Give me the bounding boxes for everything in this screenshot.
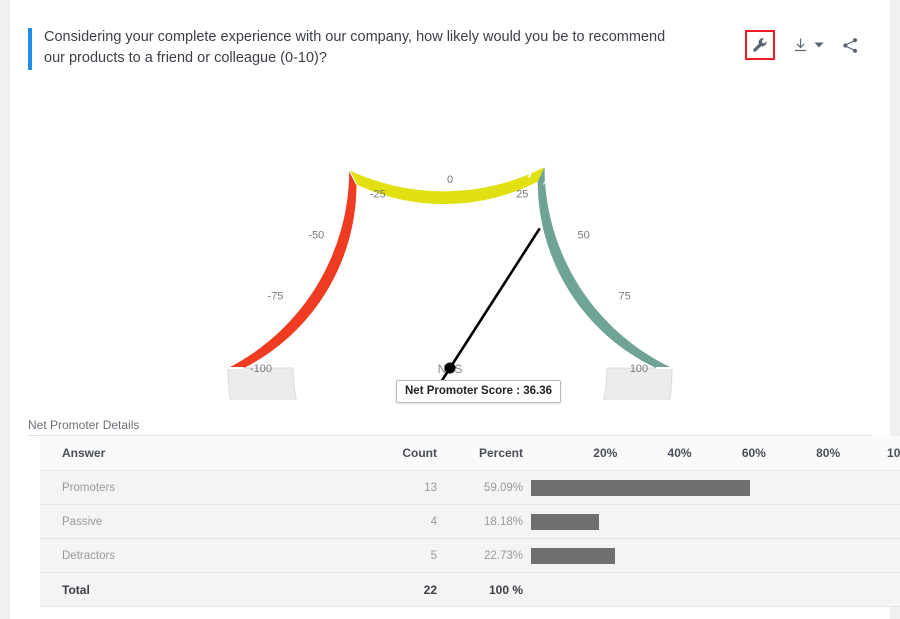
table-row: Detractors522.73% xyxy=(40,539,900,573)
download-icon xyxy=(793,37,808,53)
bar-fill xyxy=(531,514,599,530)
gauge-tick-label: 75 xyxy=(618,291,630,303)
table-row: Promoters1359.09% xyxy=(40,471,900,505)
percent-axis-tick: 40% xyxy=(668,446,692,460)
column-header-count: Count xyxy=(352,436,445,471)
percent-axis-tick: 60% xyxy=(742,446,766,460)
percent-axis-tick: 80% xyxy=(816,446,840,460)
gauge-tick-label: 50 xyxy=(578,229,590,241)
bar-fill xyxy=(531,548,615,564)
bar-track xyxy=(531,505,900,538)
percent-axis-tick: 100% xyxy=(887,446,900,460)
settings-highlight-box[interactable] xyxy=(745,30,775,60)
cell-answer: Detractors xyxy=(40,539,352,573)
gauge-tick-label: -50 xyxy=(308,229,324,241)
percent-axis: 20%40%60%80%100% xyxy=(531,436,900,470)
cell-count: 5 xyxy=(352,539,445,573)
nps-gauge-svg: -100-75-50-250255075100 NPS xyxy=(200,120,700,400)
gauge-tick-label: -25 xyxy=(370,188,386,200)
download-button[interactable] xyxy=(789,33,811,57)
cell-percent: 22.73% xyxy=(445,539,531,573)
gauge-tick-label: 100 xyxy=(630,363,648,375)
cell-percent: 59.09% xyxy=(445,471,531,505)
cell-count: 4 xyxy=(352,505,445,539)
cell-total-bar xyxy=(531,573,900,607)
cell-total-percent: 100 % xyxy=(445,573,531,607)
gauge-color-bands xyxy=(228,167,672,368)
page-root: Considering your complete experience wit… xyxy=(0,0,900,619)
bar-track xyxy=(531,539,900,572)
cell-total-answer: Total xyxy=(40,573,352,607)
question-text: Considering your complete experience wit… xyxy=(44,27,668,69)
gauge-tick-label: -75 xyxy=(267,291,283,303)
table-total-row: Total22100 % xyxy=(40,573,900,607)
table-header-row: Answer Count Percent 20%40%60%80%100% xyxy=(40,436,900,471)
gauge-value-tooltip: Net Promoter Score : 36.36 xyxy=(396,380,561,403)
details-title: Net Promoter Details xyxy=(28,418,139,432)
nps-gauge: -100-75-50-250255075100 NPS xyxy=(10,120,890,410)
percent-axis-tick: 20% xyxy=(593,446,617,460)
gauge-needle xyxy=(436,228,540,390)
table-row: Passive418.18% xyxy=(40,505,900,539)
wrench-icon xyxy=(752,37,768,53)
share-icon xyxy=(842,37,859,54)
cell-bar xyxy=(531,539,900,573)
chart-toolbar xyxy=(745,30,862,60)
column-header-percent: Percent xyxy=(445,436,531,471)
cell-bar xyxy=(531,505,900,539)
download-dropdown-button[interactable] xyxy=(812,33,826,57)
column-header-axis: 20%40%60%80%100% xyxy=(531,436,900,471)
cell-bar xyxy=(531,471,900,505)
gauge-tick-label: -100 xyxy=(250,363,272,375)
bar-track xyxy=(531,471,900,504)
question-block: Considering your complete experience wit… xyxy=(28,27,668,69)
question-accent-bar xyxy=(28,28,32,70)
column-header-answer: Answer xyxy=(40,436,352,471)
gauge-tick-label: 0 xyxy=(447,174,453,186)
cell-answer: Promoters xyxy=(40,471,352,505)
cell-total-count: 22 xyxy=(352,573,445,607)
share-button[interactable] xyxy=(838,33,862,57)
gauge-needle-hub xyxy=(445,363,456,374)
cell-answer: Passive xyxy=(40,505,352,539)
gauge-band xyxy=(228,170,356,368)
gauge-band xyxy=(538,167,672,368)
bar-fill xyxy=(531,480,750,496)
cell-percent: 18.18% xyxy=(445,505,531,539)
cell-count: 13 xyxy=(352,471,445,505)
net-promoter-details-table: Answer Count Percent 20%40%60%80%100% Pr… xyxy=(40,436,900,607)
report-card: Considering your complete experience wit… xyxy=(10,0,890,619)
table-body: Promoters1359.09%Passive418.18%Detractor… xyxy=(40,471,900,607)
chevron-down-icon xyxy=(814,41,824,49)
table-head: Answer Count Percent 20%40%60%80%100% xyxy=(40,436,900,471)
gauge-tick-label: 25 xyxy=(516,188,528,200)
